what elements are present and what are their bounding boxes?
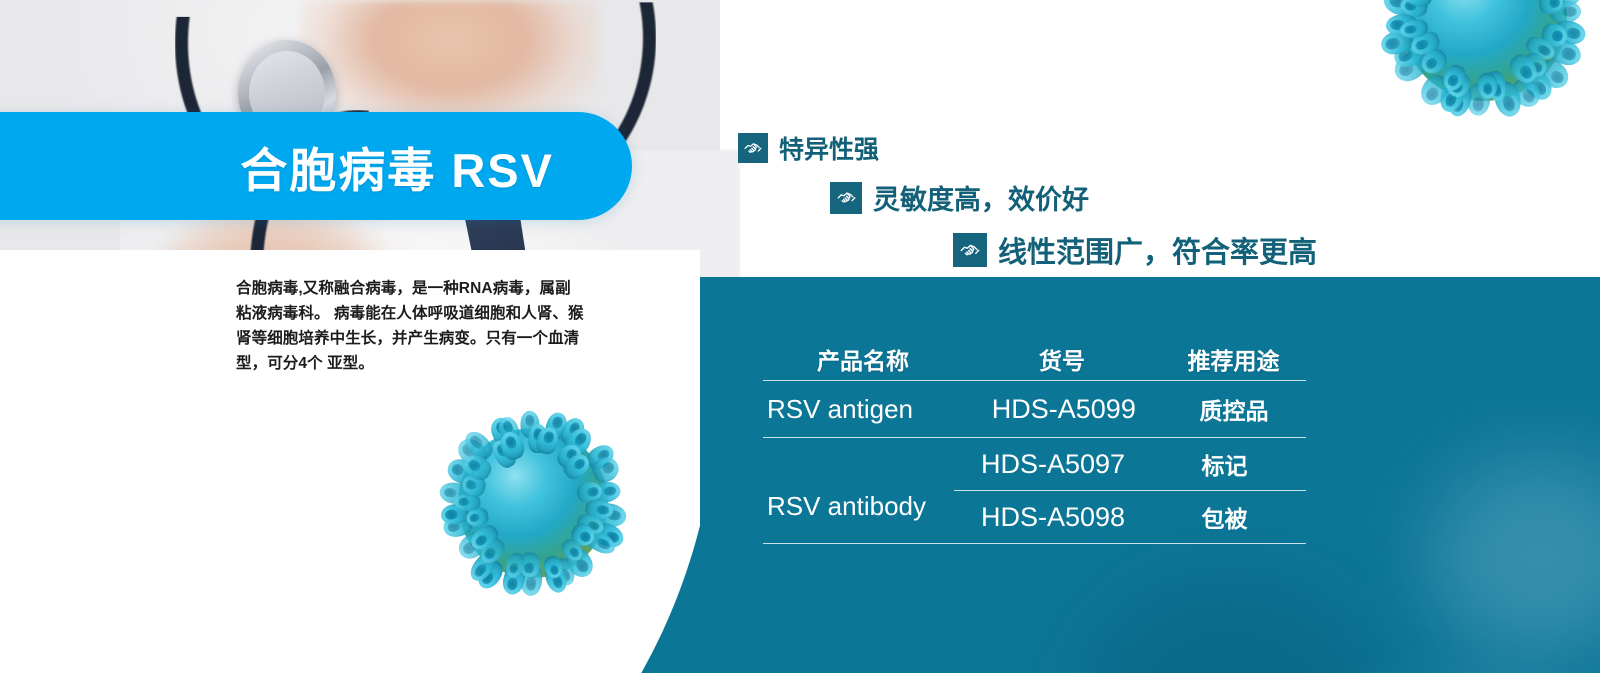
handshake-icon [953, 233, 987, 267]
cell-product-usage: 标记 [1152, 447, 1297, 481]
cell-product-code: HDS-A5098 [954, 502, 1152, 533]
handshake-icon [830, 182, 862, 214]
table-row: HDS-A5097 标记 [954, 438, 1306, 490]
page-title-label: 合胞病毒 RSV [240, 132, 632, 201]
product-table: 产品名称 货号 推荐用途 RSV antigen HDS-A5099 质控品 R… [763, 338, 1306, 544]
cell-product-usage: 质控品 [1162, 392, 1306, 426]
feature-item-1: 特异性强 [738, 130, 1317, 166]
description-text: 合胞病毒,又称融合病毒，是一种RNA病毒，属副粘液病毒科。 病毒能在人体呼吸道细… [236, 276, 586, 376]
page-title: 合胞病毒 RSV [0, 112, 632, 220]
table-header-row: 产品名称 货号 推荐用途 [763, 338, 1306, 380]
virus-particle-large [428, 398, 638, 608]
feature-item-3: 线性范围广，符合率更高 [953, 229, 1317, 271]
cell-product-usage: 包被 [1152, 500, 1297, 534]
feature-label: 特异性强 [779, 130, 879, 166]
rsv-product-banner: 合胞病毒 RSV 合胞病毒,又称融合病毒，是一种RNA病毒，属副粘液病毒科。 病… [0, 0, 1600, 673]
feature-item-2: 灵敏度高，效价好 [830, 178, 1317, 217]
table-row: HDS-A5098 包被 [954, 491, 1306, 543]
table-header-name: 产品名称 [763, 342, 963, 376]
feature-list: 特异性强 灵敏度高，效价好 [738, 130, 1317, 283]
table-header-code: 货号 [963, 342, 1161, 376]
bokeh-blob [1430, 457, 1600, 657]
cell-product-code: HDS-A5097 [954, 449, 1152, 480]
handshake-icon [738, 133, 768, 163]
bokeh-blob [1080, 577, 1380, 673]
feature-label: 灵敏度高，效价好 [873, 178, 1089, 217]
cell-product-name-merged: RSV antibody [767, 454, 963, 558]
virus-particle-corner [1368, 0, 1600, 134]
description-box: 合胞病毒,又称融合病毒，是一种RNA病毒，属副粘液病毒科。 病毒能在人体呼吸道细… [222, 266, 600, 388]
cell-product-name: RSV antigen [763, 394, 966, 425]
cell-product-code: HDS-A5099 [966, 394, 1163, 425]
feature-label: 线性范围广，符合率更高 [998, 229, 1317, 271]
table-row: RSV antigen HDS-A5099 质控品 [763, 381, 1306, 437]
table-header-usage: 推荐用途 [1161, 342, 1306, 376]
